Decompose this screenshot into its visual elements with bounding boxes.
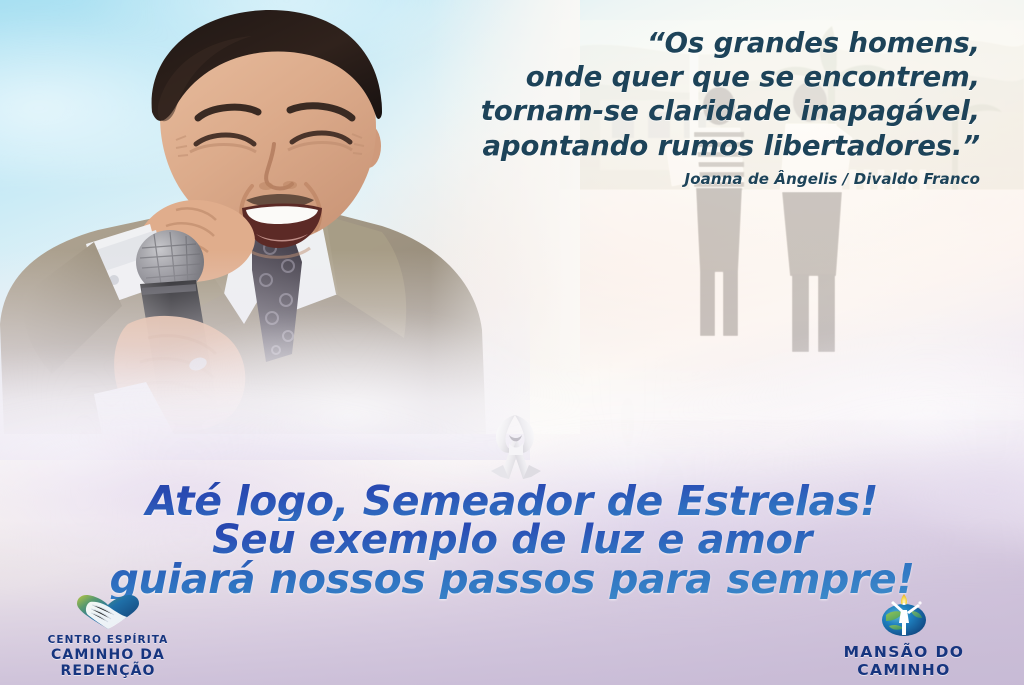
- logo-left-line-1: CENTRO ESPÍRITA: [8, 634, 208, 647]
- quote-line-2: onde quer que se encontrem,: [420, 60, 980, 94]
- white-awareness-ribbon-icon: [479, 409, 551, 487]
- tribute-poster: “Os grandes homens, onde quer que se enc…: [0, 0, 1024, 685]
- logo-centro-espirita-caminho-da-redencao: CENTRO ESPÍRITA CAMINHO DA REDENÇÃO: [8, 594, 208, 679]
- logo-left-line-2: CAMINHO DA REDENÇÃO: [8, 647, 208, 679]
- quote-line-3: tornam-se claridade inapagável,: [420, 94, 980, 128]
- logo-right-line-1: MANSÃO DO CAMINHO: [794, 643, 1014, 679]
- quote-line-1: “Os grandes homens,: [420, 26, 980, 60]
- quote-attribution: Joanna de Ângelis / Divaldo Franco: [420, 170, 980, 188]
- headline-line-1: Até logo, Semeador de Estrelas!: [0, 482, 1024, 521]
- quote-line-4: apontando rumos libertadores.”: [420, 129, 980, 163]
- quote-block: “Os grandes homens, onde quer que se enc…: [420, 26, 980, 163]
- logo-mansao-do-caminho: MANSÃO DO CAMINHO: [794, 593, 1014, 679]
- globe-torch-figure-icon: [794, 593, 1014, 643]
- heart-hands-icon: [8, 594, 208, 634]
- headline-block: Até logo, Semeador de Estrelas! Seu exem…: [0, 482, 1024, 599]
